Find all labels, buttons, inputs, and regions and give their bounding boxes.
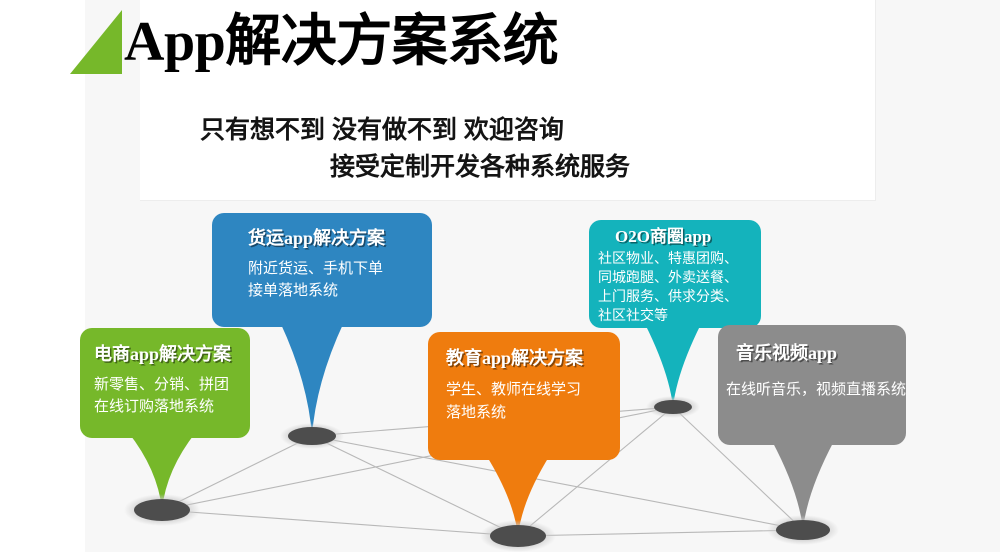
solution-title-education: 教育app解决方案: [446, 346, 620, 370]
solution-title-ecommerce: 电商app解决方案: [94, 342, 250, 366]
solution-card-education[interactable]: 教育app解决方案 学生、教师在线学习 落地系统: [428, 332, 620, 460]
solution-title-music: 音乐视频app: [736, 341, 906, 365]
solution-body-line: 新零售、分销、拼团: [94, 374, 250, 396]
solution-body-line: 社区物业、特惠团购、: [598, 249, 761, 268]
solution-body-line: 在线订购落地系统: [94, 396, 250, 418]
solution-body-line: 落地系统: [446, 401, 620, 424]
solution-card-freight[interactable]: 货运app解决方案 附近货运、手机下单 接单落地系统: [212, 213, 432, 327]
page-title: App解决方案系统: [124, 9, 558, 75]
solution-body-ecommerce: 新零售、分销、拼团 在线订购落地系统: [94, 374, 250, 418]
solution-body-line: 附近货运、手机下单: [248, 258, 432, 280]
solution-body-education: 学生、教师在线学习 落地系统: [446, 378, 620, 424]
solution-body-line: 社区社交等: [598, 306, 761, 325]
solution-title-o2o: O2O商圈app: [615, 226, 761, 247]
solution-body-music: 在线听音乐，视频直播系统: [726, 379, 906, 401]
solution-body-line: 同城跑腿、外卖送餐、: [598, 268, 761, 287]
solution-body-line: 在线听音乐，视频直播系统: [726, 379, 906, 401]
subtitle-block: 只有想不到 没有做不到 欢迎咨询 接受定制开发各种系统服务: [200, 112, 760, 186]
solution-body-line: 接单落地系统: [248, 280, 432, 302]
solution-title-freight: 货运app解决方案: [248, 226, 432, 250]
solution-body-freight: 附近货运、手机下单 接单落地系统: [248, 258, 432, 302]
subtitle-line-1: 只有想不到 没有做不到 欢迎咨询: [200, 112, 760, 149]
solution-body-line: 上门服务、供求分类、: [598, 287, 761, 306]
solution-card-o2o[interactable]: O2O商圈app 社区物业、特惠团购、 同城跑腿、外卖送餐、 上门服务、供求分类…: [589, 220, 761, 328]
slide-canvas: App解决方案系统 只有想不到 没有做不到 欢迎咨询 接受定制开发各种系统服务: [0, 0, 1000, 552]
solution-card-ecommerce[interactable]: 电商app解决方案 新零售、分销、拼团 在线订购落地系统: [80, 328, 250, 438]
subtitle-line-2: 接受定制开发各种系统服务: [200, 149, 760, 186]
solution-body-line: 学生、教师在线学习: [446, 378, 620, 401]
solution-card-music[interactable]: 音乐视频app 在线听音乐，视频直播系统: [718, 325, 906, 445]
solution-body-o2o: 社区物业、特惠团购、 同城跑腿、外卖送餐、 上门服务、供求分类、 社区社交等: [598, 249, 761, 325]
